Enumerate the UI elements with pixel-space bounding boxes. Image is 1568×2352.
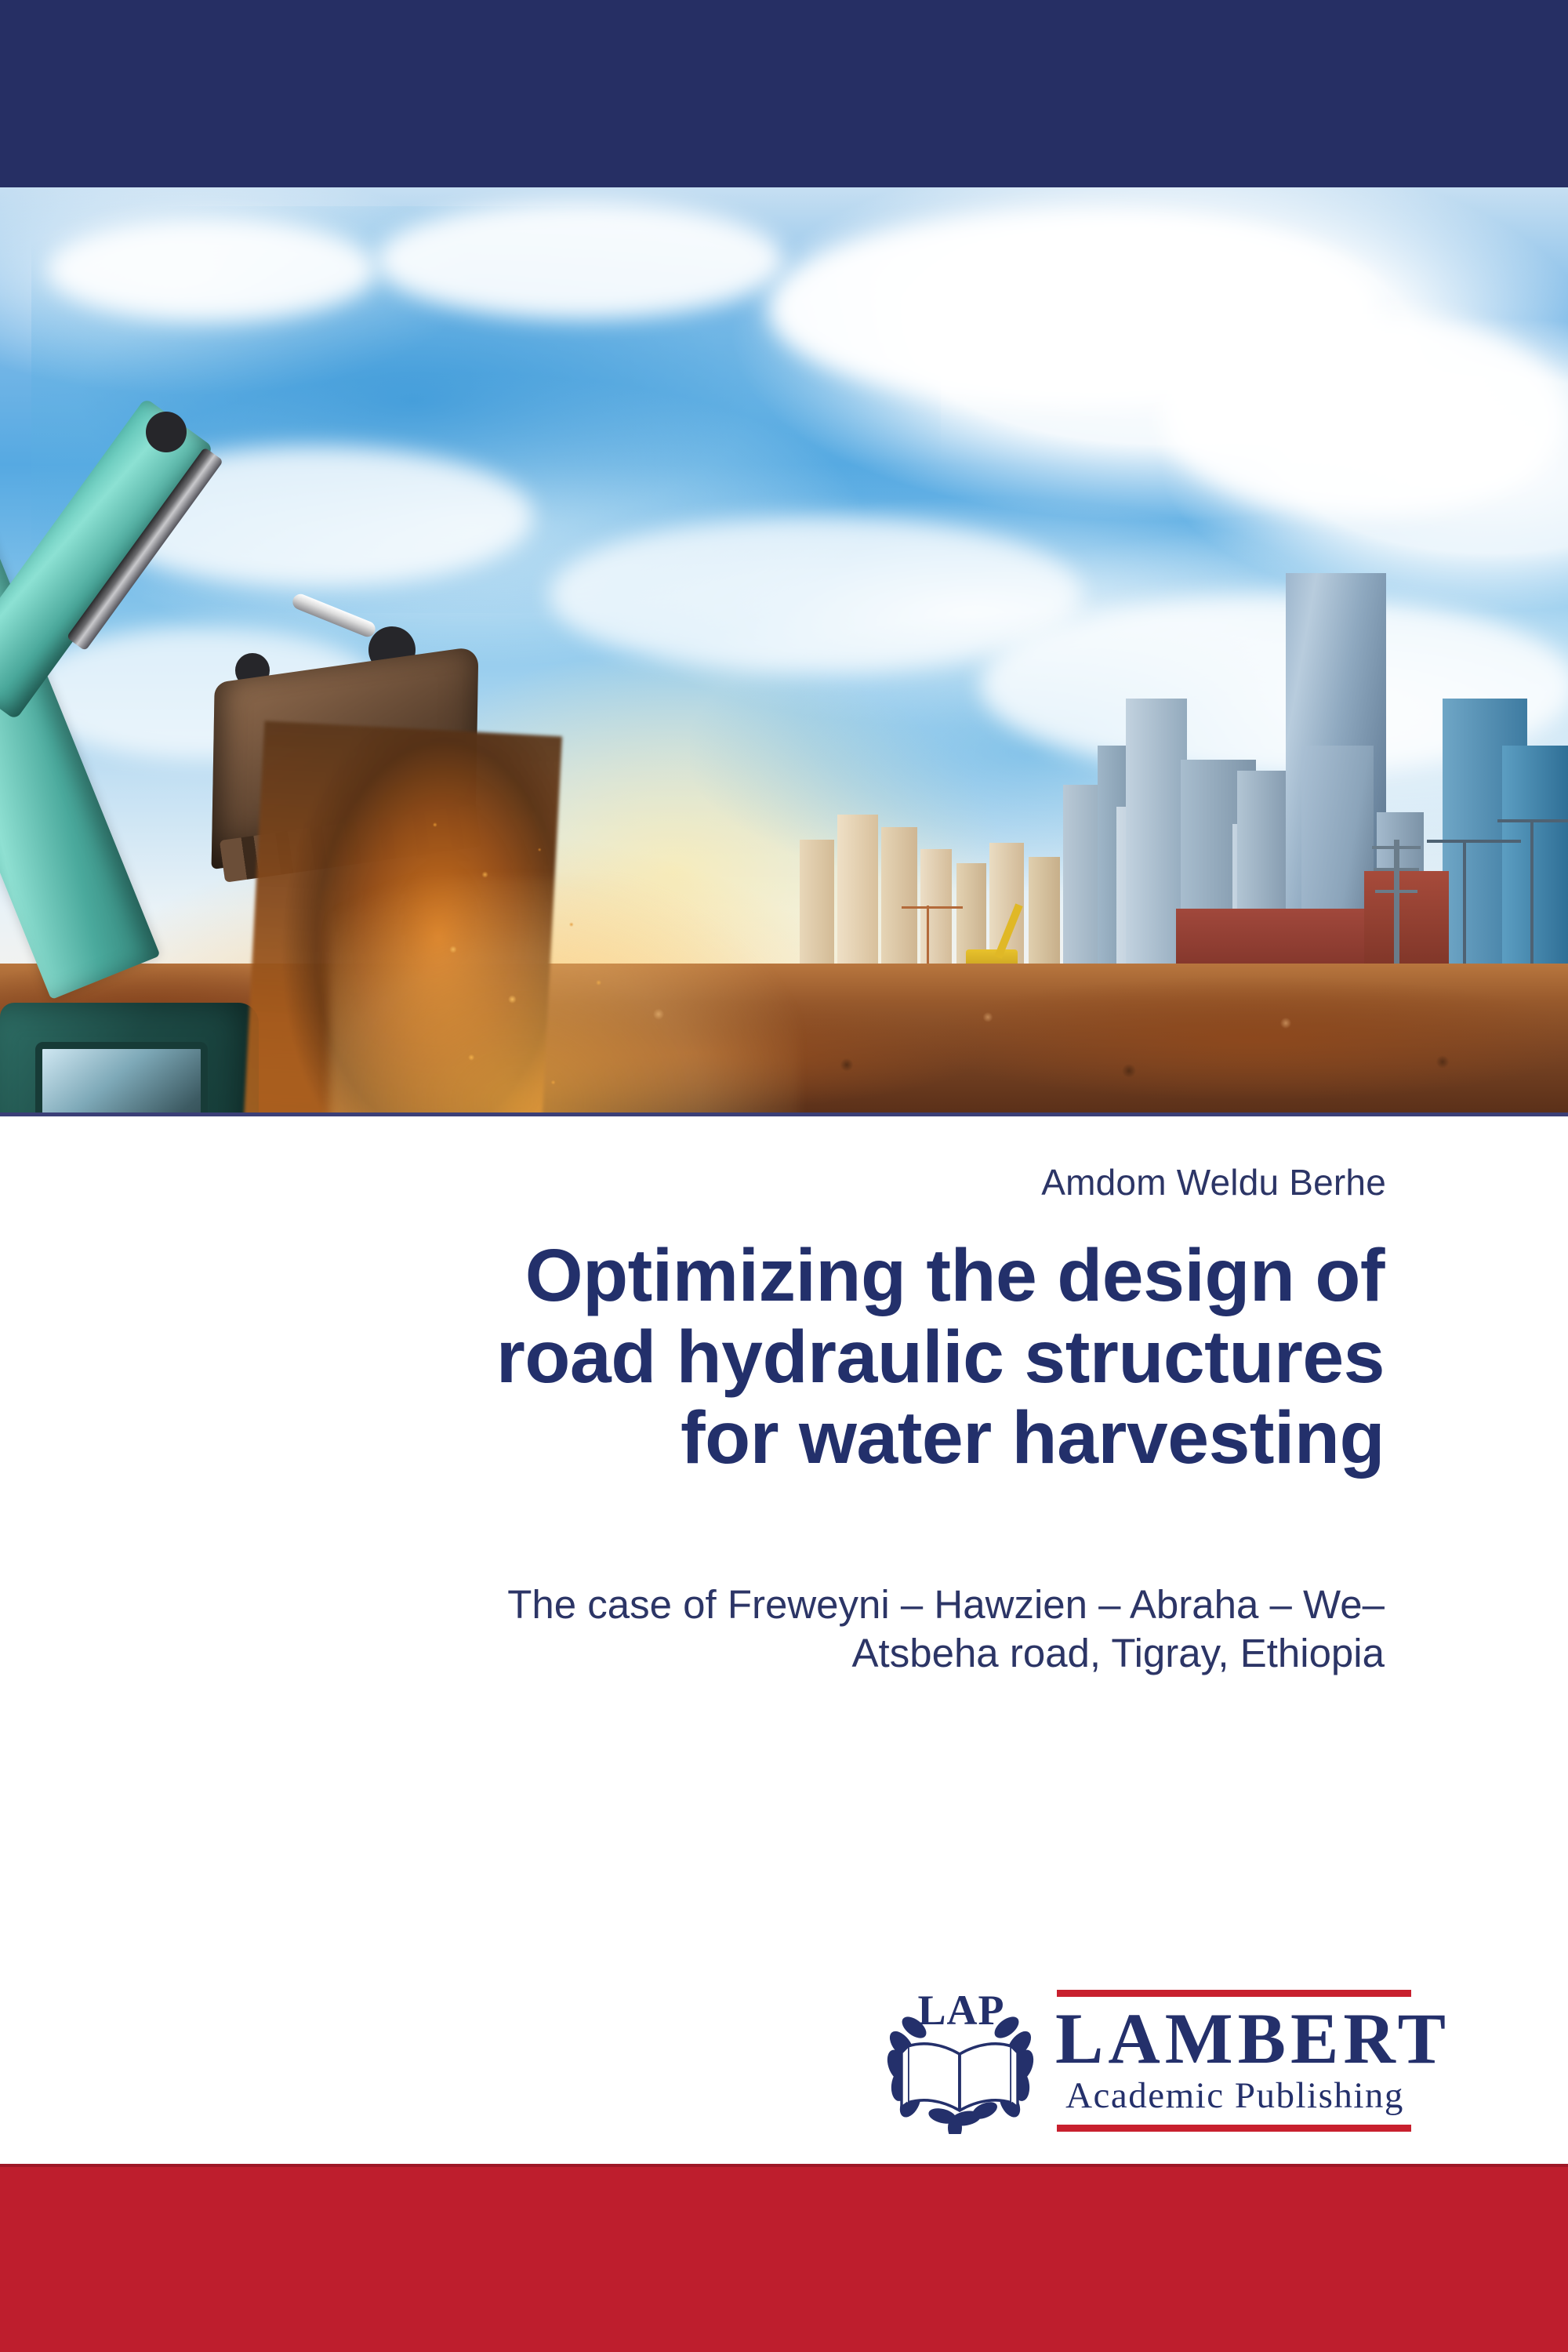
top-navy-banner	[0, 0, 1568, 187]
publisher-logo: LAP LAMBERT Academic Publishing	[884, 1982, 1417, 2139]
title-line: for water harvesting	[162, 1398, 1385, 1479]
building	[800, 840, 834, 981]
subtitle-line: The case of Freweyni – Hawzien – Abraha …	[162, 1581, 1385, 1629]
excavator-pivot-joint	[146, 412, 187, 452]
bottom-red-bar	[0, 2164, 1568, 2352]
excavator-cab-window	[35, 1042, 208, 1116]
utility-pole-arm	[1375, 890, 1417, 893]
lap-emblem-icon: LAP	[884, 1987, 1038, 2134]
lap-wordmark: LAP	[918, 1987, 1005, 2034]
building	[920, 849, 952, 981]
sunlight-glow	[329, 877, 800, 1116]
author-name: Amdom Weldu Berhe	[1041, 1161, 1386, 1203]
crane-jib	[1497, 819, 1568, 822]
cloud-wisp	[376, 201, 784, 319]
book-cover: Amdom Weldu Berhe Optimizing the design …	[0, 0, 1568, 2352]
crane-jib	[902, 906, 963, 909]
logo-rule-bottom	[1057, 2125, 1411, 2132]
publisher-name: LAMBERT	[1055, 2002, 1414, 2074]
crane	[1530, 819, 1534, 981]
building	[881, 827, 917, 981]
title-line: Optimizing the design of	[162, 1236, 1385, 1317]
building	[837, 815, 878, 981]
cover-photo	[0, 187, 1568, 1116]
crane	[1463, 840, 1466, 981]
subtitle-line: Atsbeha road, Tigray, Ethiopia	[162, 1629, 1385, 1678]
lambert-wordmark-block: LAMBERT Academic Publishing	[1046, 1982, 1417, 2137]
utility-pole-arm	[1374, 868, 1419, 871]
book-title: Optimizing the design of road hydraulic …	[162, 1236, 1385, 1479]
book-subtitle: The case of Freweyni – Hawzien – Abraha …	[162, 1581, 1385, 1678]
building	[1029, 857, 1060, 981]
title-line: road hydraulic structures	[162, 1317, 1385, 1399]
building-under-construction	[1502, 746, 1568, 981]
utility-pole	[1394, 840, 1399, 981]
publisher-tagline: Academic Publishing	[1055, 2078, 1414, 2114]
crane-jib	[1427, 840, 1521, 843]
cloud-wisp	[1160, 313, 1568, 517]
cloud-wisp	[47, 219, 376, 321]
cover-text-area: Amdom Weldu Berhe Optimizing the design …	[0, 1116, 1568, 2164]
logo-rule-top	[1057, 1990, 1411, 1997]
utility-pole-arm	[1372, 846, 1421, 849]
